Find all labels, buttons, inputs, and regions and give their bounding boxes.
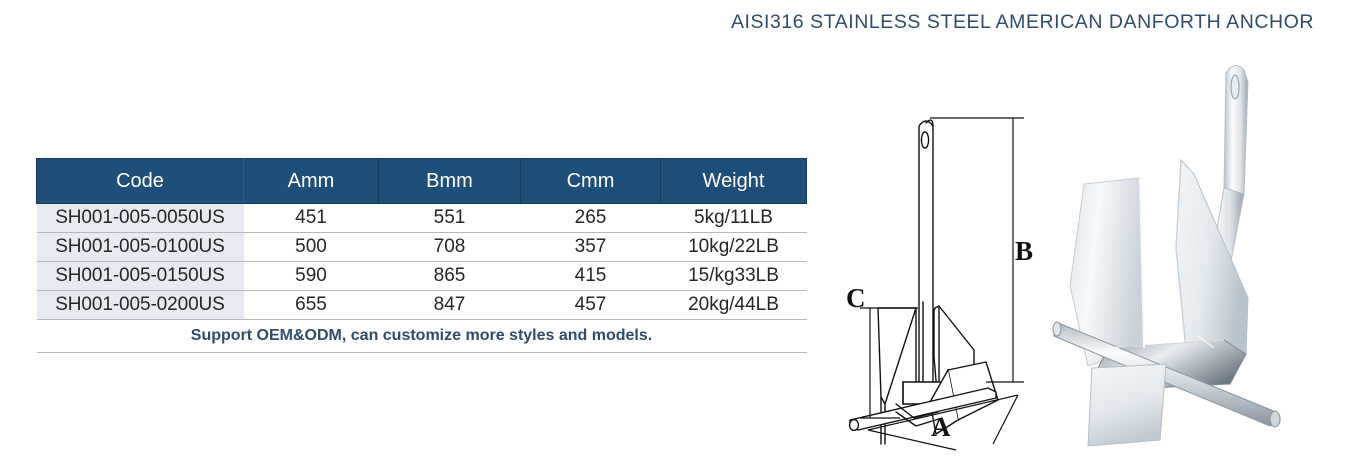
cell-code: SH001-005-0200US <box>37 291 244 320</box>
spec-table-container: Code Amm Bmm Cmm Weight SH001-005-0050US… <box>36 158 806 353</box>
dimension-label-a: A <box>931 412 951 443</box>
cell-weight: 5kg/11LB <box>661 204 807 233</box>
table-header-row: Code Amm Bmm Cmm Weight <box>37 159 807 204</box>
cell-weight: 10kg/22LB <box>661 233 807 262</box>
table-row: SH001-005-0150US 590 865 415 15/kg33LB <box>37 262 807 291</box>
dim-a-line-right <box>993 395 1018 444</box>
cell-bmm: 865 <box>379 262 521 291</box>
anchor-photo-svg <box>1048 48 1360 460</box>
cell-bmm: 551 <box>379 204 521 233</box>
cell-weight: 20kg/44LB <box>661 291 807 320</box>
palm-plate <box>1088 364 1166 446</box>
table-row: SH001-005-0100US 500 708 357 10kg/22LB <box>37 233 807 262</box>
cell-amm: 590 <box>244 262 379 291</box>
anchor-technical-drawing <box>838 52 1038 452</box>
cell-cmm: 415 <box>521 262 661 291</box>
table-row: SH001-005-0200US 655 847 457 20kg/44LB <box>37 291 807 320</box>
anchor-product-photo <box>1048 48 1360 460</box>
cell-bmm: 708 <box>379 233 521 262</box>
cell-code: SH001-005-0150US <box>37 262 244 291</box>
shank-eye <box>1231 75 1239 99</box>
table-note-row: Support OEM&ODM, can customize more styl… <box>37 320 807 353</box>
cell-amm: 655 <box>244 291 379 320</box>
cell-amm: 451 <box>244 204 379 233</box>
spec-table: Code Amm Bmm Cmm Weight SH001-005-0050US… <box>36 158 807 353</box>
column-header-code: Code <box>37 159 244 204</box>
table-row: SH001-005-0050US 451 551 265 5kg/11LB <box>37 204 807 233</box>
anchor-line-art-svg <box>838 52 1038 452</box>
column-header-cmm: Cmm <box>521 159 661 204</box>
column-header-bmm: Bmm <box>379 159 521 204</box>
cell-weight: 15/kg33LB <box>661 262 807 291</box>
column-header-weight: Weight <box>661 159 807 204</box>
cell-cmm: 265 <box>521 204 661 233</box>
cell-code: SH001-005-0050US <box>37 204 244 233</box>
cell-cmm: 357 <box>521 233 661 262</box>
cell-bmm: 847 <box>379 291 521 320</box>
table-note: Support OEM&ODM, can customize more styl… <box>37 320 807 353</box>
cell-cmm: 457 <box>521 291 661 320</box>
cell-code: SH001-005-0100US <box>37 233 244 262</box>
dimension-label-b: B <box>1015 236 1033 267</box>
cell-amm: 500 <box>244 233 379 262</box>
dimension-label-c: C <box>846 283 866 314</box>
column-header-amm: Amm <box>244 159 379 204</box>
page-title: AISI316 STAINLESS STEEL AMERICAN DANFORT… <box>0 11 1314 34</box>
